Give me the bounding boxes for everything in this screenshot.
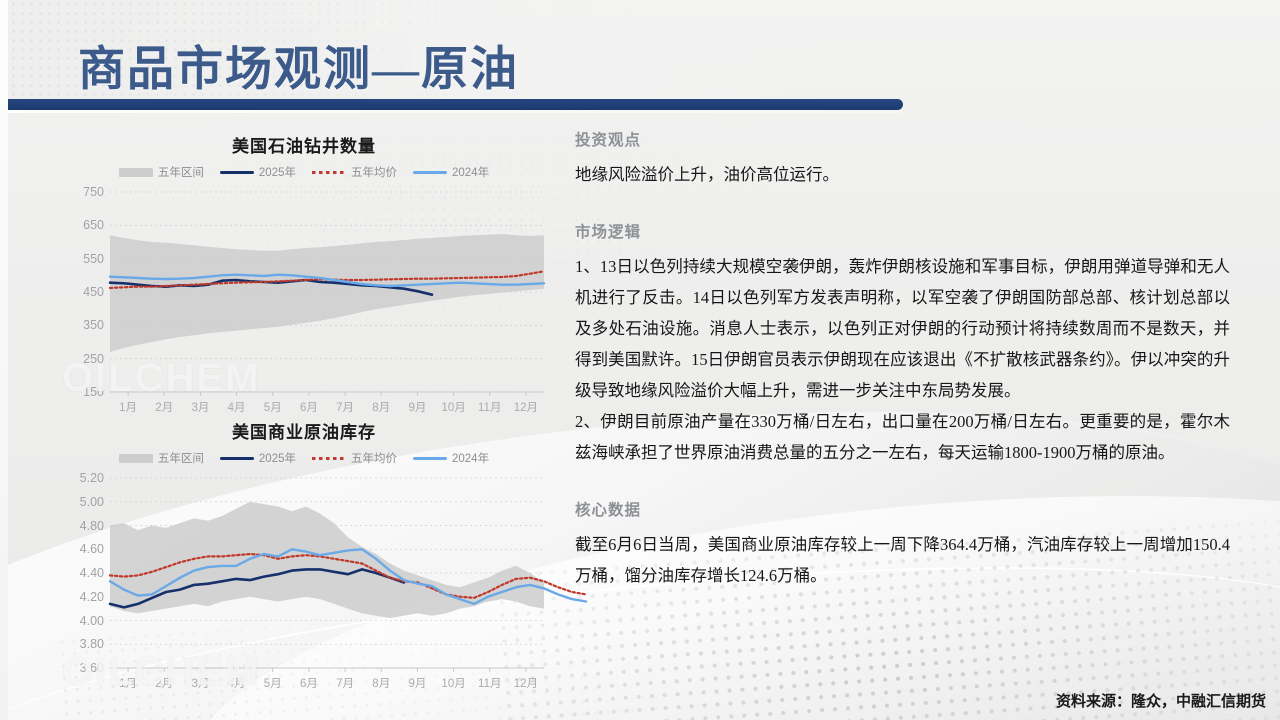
commentary-panel: 投资观点 地缘风险溢价上升，油价高位运行。 市场逻辑 1、13日以色列持续大规模… xyxy=(575,128,1230,591)
x-axis-tick-label: 5月 xyxy=(264,668,282,691)
line-swatch-icon-2024 xyxy=(413,171,447,174)
x-axis-tick-label: 12月 xyxy=(514,392,538,415)
y-axis-tick-label: 4.40 xyxy=(80,566,110,580)
x-axis-tick-label: 2月 xyxy=(155,668,173,691)
plot2-svg xyxy=(110,478,544,668)
five-year-range-band xyxy=(110,234,544,352)
slide-root: 商品市场观测—原油 美国石油钻井数量 五年区间 2025年 五年均价 2024年… xyxy=(0,0,1280,720)
legend-item-band: 五年区间 xyxy=(119,164,204,180)
legend-label-2024: 2024年 xyxy=(452,164,489,180)
legend-item-2024: 2024年 xyxy=(413,164,489,180)
legend-label-2024: 2024年 xyxy=(452,450,489,466)
chart2-plot-area: 5.205.004.804.604.404.204.003.803.601月2月… xyxy=(110,478,544,668)
market-logic-item-2: 2、伊朗目前原油产量在330万桶/日左右，出口量在200万桶/日左右。更重要的是… xyxy=(575,406,1230,468)
x-axis-tick-label: 10月 xyxy=(441,668,465,691)
x-axis-tick-label: 3月 xyxy=(191,668,209,691)
dotted-swatch-icon-average xyxy=(312,457,346,460)
market-logic-heading: 市场逻辑 xyxy=(575,220,1230,242)
x-axis-tick-label: 5月 xyxy=(264,392,282,415)
y-axis-tick-label: 5.00 xyxy=(80,495,110,509)
y-axis-tick-label: 450 xyxy=(83,285,110,299)
header-accent-bar xyxy=(8,99,903,110)
x-axis-tick-label: 8月 xyxy=(372,392,390,415)
y-axis-tick-label: 150 xyxy=(83,385,110,399)
plot1-svg xyxy=(110,192,544,392)
y-axis-tick-label: 4.60 xyxy=(80,542,110,556)
chart2-title: 美国商业原油库存 xyxy=(64,418,544,443)
legend-item-2025: 2025年 xyxy=(220,450,296,466)
x-axis-tick-label: 2月 xyxy=(155,392,173,415)
legend-item-average: 五年均价 xyxy=(312,450,397,466)
y-axis-tick-label: 4.20 xyxy=(80,590,110,604)
y-axis-tick-label: 650 xyxy=(83,218,110,232)
x-axis-tick-label: 9月 xyxy=(408,668,426,691)
chart-us-oil-rig-count: 美国石油钻井数量 五年区间 2025年 五年均价 2024年 750650550… xyxy=(64,132,544,392)
left-edge-strip xyxy=(0,0,8,720)
x-axis-tick-label: 3月 xyxy=(191,392,209,415)
source-note: 资料来源：隆众，中融汇信期货 xyxy=(1056,690,1266,711)
chart1-plot-area: 7506505504503502501501月2月3月4月5月6月7月8月9月1… xyxy=(110,192,544,392)
y-axis-tick-label: 3.60 xyxy=(80,661,110,675)
legend-label-2025: 2025年 xyxy=(259,164,296,180)
x-axis-tick-label: 7月 xyxy=(336,668,354,691)
legend-item-2024: 2024年 xyxy=(413,450,489,466)
band-swatch-icon xyxy=(119,454,153,463)
core-data-heading: 核心数据 xyxy=(575,498,1230,520)
legend-label-2025: 2025年 xyxy=(259,450,296,466)
x-axis-tick-label: 11月 xyxy=(478,668,501,691)
chart-us-commercial-crude-inventory: 美国商业原油库存 五年区间 2025年 五年均价 2024年 5.205.004… xyxy=(64,418,544,668)
x-axis-tick-label: 11月 xyxy=(478,392,501,415)
dotted-swatch-icon-average xyxy=(312,171,346,174)
y-axis-tick-label: 350 xyxy=(83,318,110,332)
investment-view-body: 地缘风险溢价上升，油价高位运行。 xyxy=(575,159,1230,190)
band-swatch-icon xyxy=(119,168,153,177)
legend-item-band: 五年区间 xyxy=(119,450,204,466)
y-axis-tick-label: 4.00 xyxy=(80,614,110,628)
legend-item-average: 五年均价 xyxy=(312,164,397,180)
line-swatch-icon-2025 xyxy=(220,171,254,174)
chart1-title: 美国石油钻井数量 xyxy=(64,132,544,157)
x-axis-tick-label: 8月 xyxy=(372,668,390,691)
line-swatch-icon-2024 xyxy=(413,457,447,460)
page-title: 商品市场观测—原油 xyxy=(78,30,519,99)
x-axis-tick-label: 1月 xyxy=(119,668,137,691)
y-axis-tick-label: 4.80 xyxy=(80,519,110,533)
legend-label-average: 五年均价 xyxy=(351,450,397,466)
x-axis-tick-label: 6月 xyxy=(300,668,318,691)
legend-label-band: 五年区间 xyxy=(158,164,204,180)
legend-item-2025: 2025年 xyxy=(220,164,296,180)
chart2-legend: 五年区间 2025年 五年均价 2024年 xyxy=(64,450,544,466)
investment-view-heading: 投资观点 xyxy=(575,128,1230,150)
line-swatch-icon-2025 xyxy=(220,457,254,460)
x-axis-tick-label: 7月 xyxy=(336,392,354,415)
core-data-body: 截至6月6日当周，美国商业原油库存较上一周下降364.4万桶，汽油库存较上一周增… xyxy=(575,529,1230,591)
y-axis-tick-label: 750 xyxy=(83,185,110,199)
x-axis-tick-label: 1月 xyxy=(119,392,137,415)
x-axis-tick-label: 4月 xyxy=(228,392,246,415)
market-logic-item-1: 1、13日以色列持续大规模空袭伊朗，轰炸伊朗核设施和军事目标，伊朗用弹道导弹和无… xyxy=(575,251,1230,406)
y-axis-tick-label: 5.20 xyxy=(80,471,110,485)
x-axis-tick-label: 4月 xyxy=(228,668,246,691)
legend-label-band: 五年区间 xyxy=(158,450,204,466)
y-axis-tick-label: 3.80 xyxy=(80,637,110,651)
y-axis-tick-label: 250 xyxy=(83,352,110,366)
y-axis-tick-label: 550 xyxy=(83,252,110,266)
chart1-legend: 五年区间 2025年 五年均价 2024年 xyxy=(64,164,544,180)
x-axis-tick-label: 10月 xyxy=(441,392,465,415)
x-axis-tick-label: 6月 xyxy=(300,392,318,415)
x-axis-tick-label: 9月 xyxy=(408,392,426,415)
legend-label-average: 五年均价 xyxy=(351,164,397,180)
x-axis-tick-label: 12月 xyxy=(514,668,538,691)
